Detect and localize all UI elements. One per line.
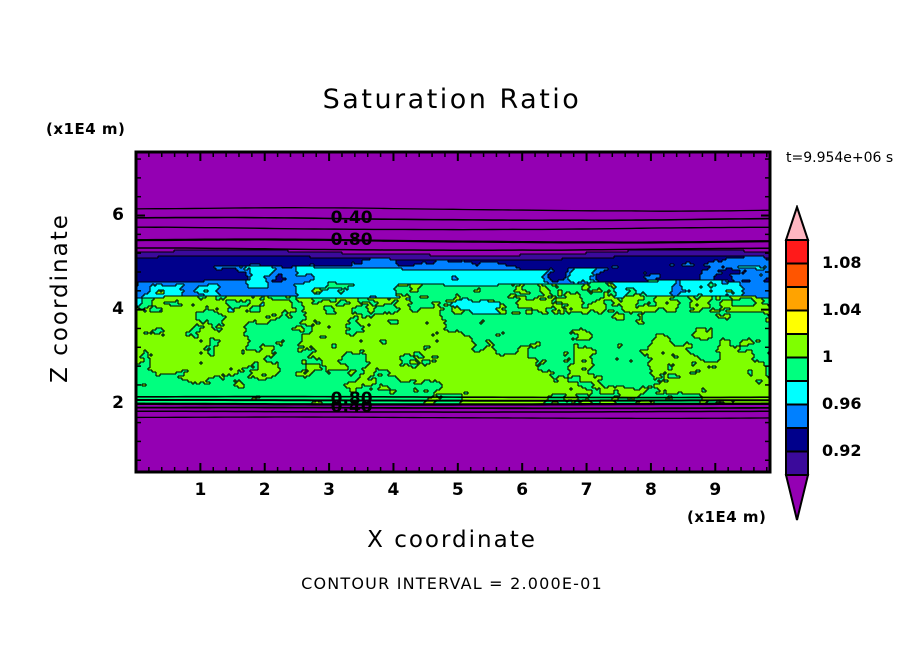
y-tick-label: 4 (90, 299, 124, 319)
colorbar-tick-label: 0.92 (822, 441, 861, 460)
x-tick-label: 8 (631, 480, 671, 500)
colorbar-tick-label: 1.08 (822, 253, 861, 272)
colorbar-tick-label: 1 (822, 347, 833, 366)
x-tick-label: 7 (567, 480, 607, 500)
x-tick-label: 5 (438, 480, 478, 500)
figure-root: Saturation Ratio (x1E4 m) (x1E4 m) t=9.9… (0, 0, 904, 654)
x-tick-label: 6 (502, 480, 542, 500)
colorbar-tick-label: 1.04 (822, 300, 861, 319)
x-tick-label: 2 (245, 480, 285, 500)
x-tick-label: 4 (373, 480, 413, 500)
colorbar (778, 205, 818, 525)
axes-and-ticks (0, 0, 904, 654)
contour-value-label: 0.80 (331, 230, 373, 250)
x-tick-label: 9 (695, 480, 735, 500)
x-tick-label: 3 (309, 480, 349, 500)
y-tick-label: 6 (90, 205, 124, 225)
contour-value-label: 0.40 (331, 397, 373, 417)
contour-value-label: 0.40 (331, 208, 373, 228)
x-tick-label: 1 (180, 480, 220, 500)
colorbar-tick-label: 0.96 (822, 394, 861, 413)
y-tick-label: 2 (90, 393, 124, 413)
